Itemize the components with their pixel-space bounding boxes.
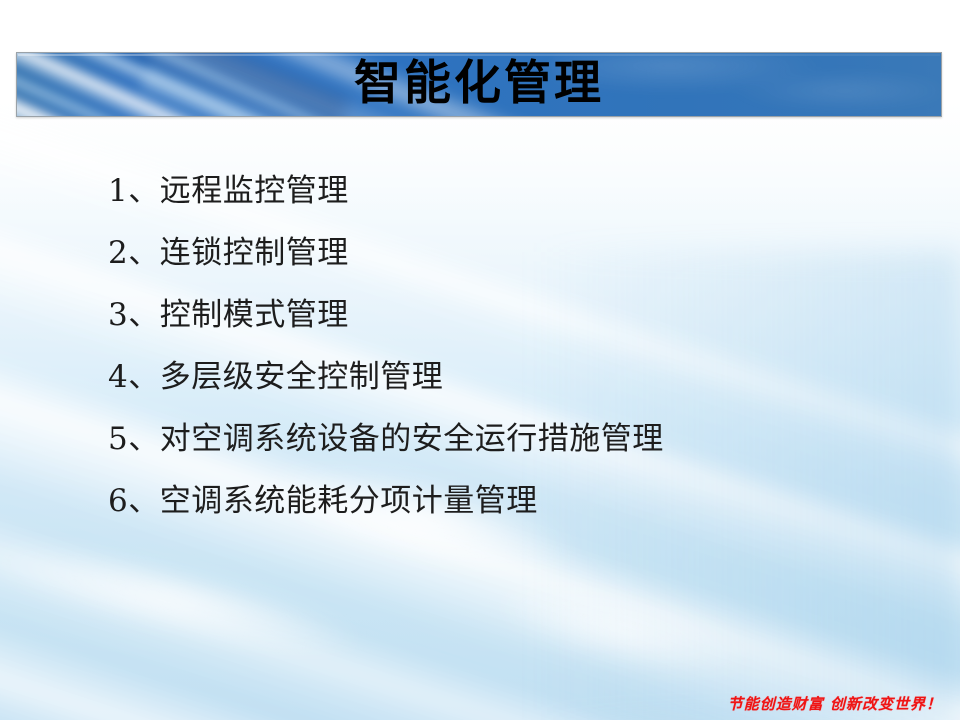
list-item-label: 多层级安全控制管理 (160, 359, 444, 395)
list-item-number: 5、 (108, 421, 160, 457)
footer-slogan: 节能创造财富 创新改变世界！ (728, 693, 942, 714)
list-item-number: 3、 (108, 297, 160, 333)
presentation-slide: 智能化管理 1、远程监控管理 2、连锁控制管理 3、控制模式管理 4、多层级安全… (0, 0, 960, 720)
list-item: 2、连锁控制管理 (108, 222, 928, 284)
bullet-list: 1、远程监控管理 2、连锁控制管理 3、控制模式管理 4、多层级安全控制管理 5… (108, 160, 928, 532)
list-item-label: 远程监控管理 (160, 173, 349, 209)
list-item-number: 2、 (108, 235, 160, 271)
list-item: 6、空调系统能耗分项计量管理 (108, 470, 928, 532)
list-item-label: 对空调系统设备的安全运行措施管理 (160, 421, 664, 457)
slide-title: 智能化管理 (17, 53, 941, 116)
list-item: 4、多层级安全控制管理 (108, 346, 928, 408)
list-item: 5、对空调系统设备的安全运行措施管理 (108, 408, 928, 470)
list-item: 3、控制模式管理 (108, 284, 928, 346)
list-item-label: 控制模式管理 (160, 297, 349, 333)
list-item-label: 空调系统能耗分项计量管理 (160, 483, 538, 519)
list-item-number: 4、 (108, 359, 160, 395)
list-item-label: 连锁控制管理 (160, 235, 349, 271)
list-item: 1、远程监控管理 (108, 160, 928, 222)
list-item-number: 1、 (108, 173, 160, 209)
list-item-number: 6、 (108, 483, 160, 519)
title-banner: 智能化管理 (16, 52, 942, 117)
